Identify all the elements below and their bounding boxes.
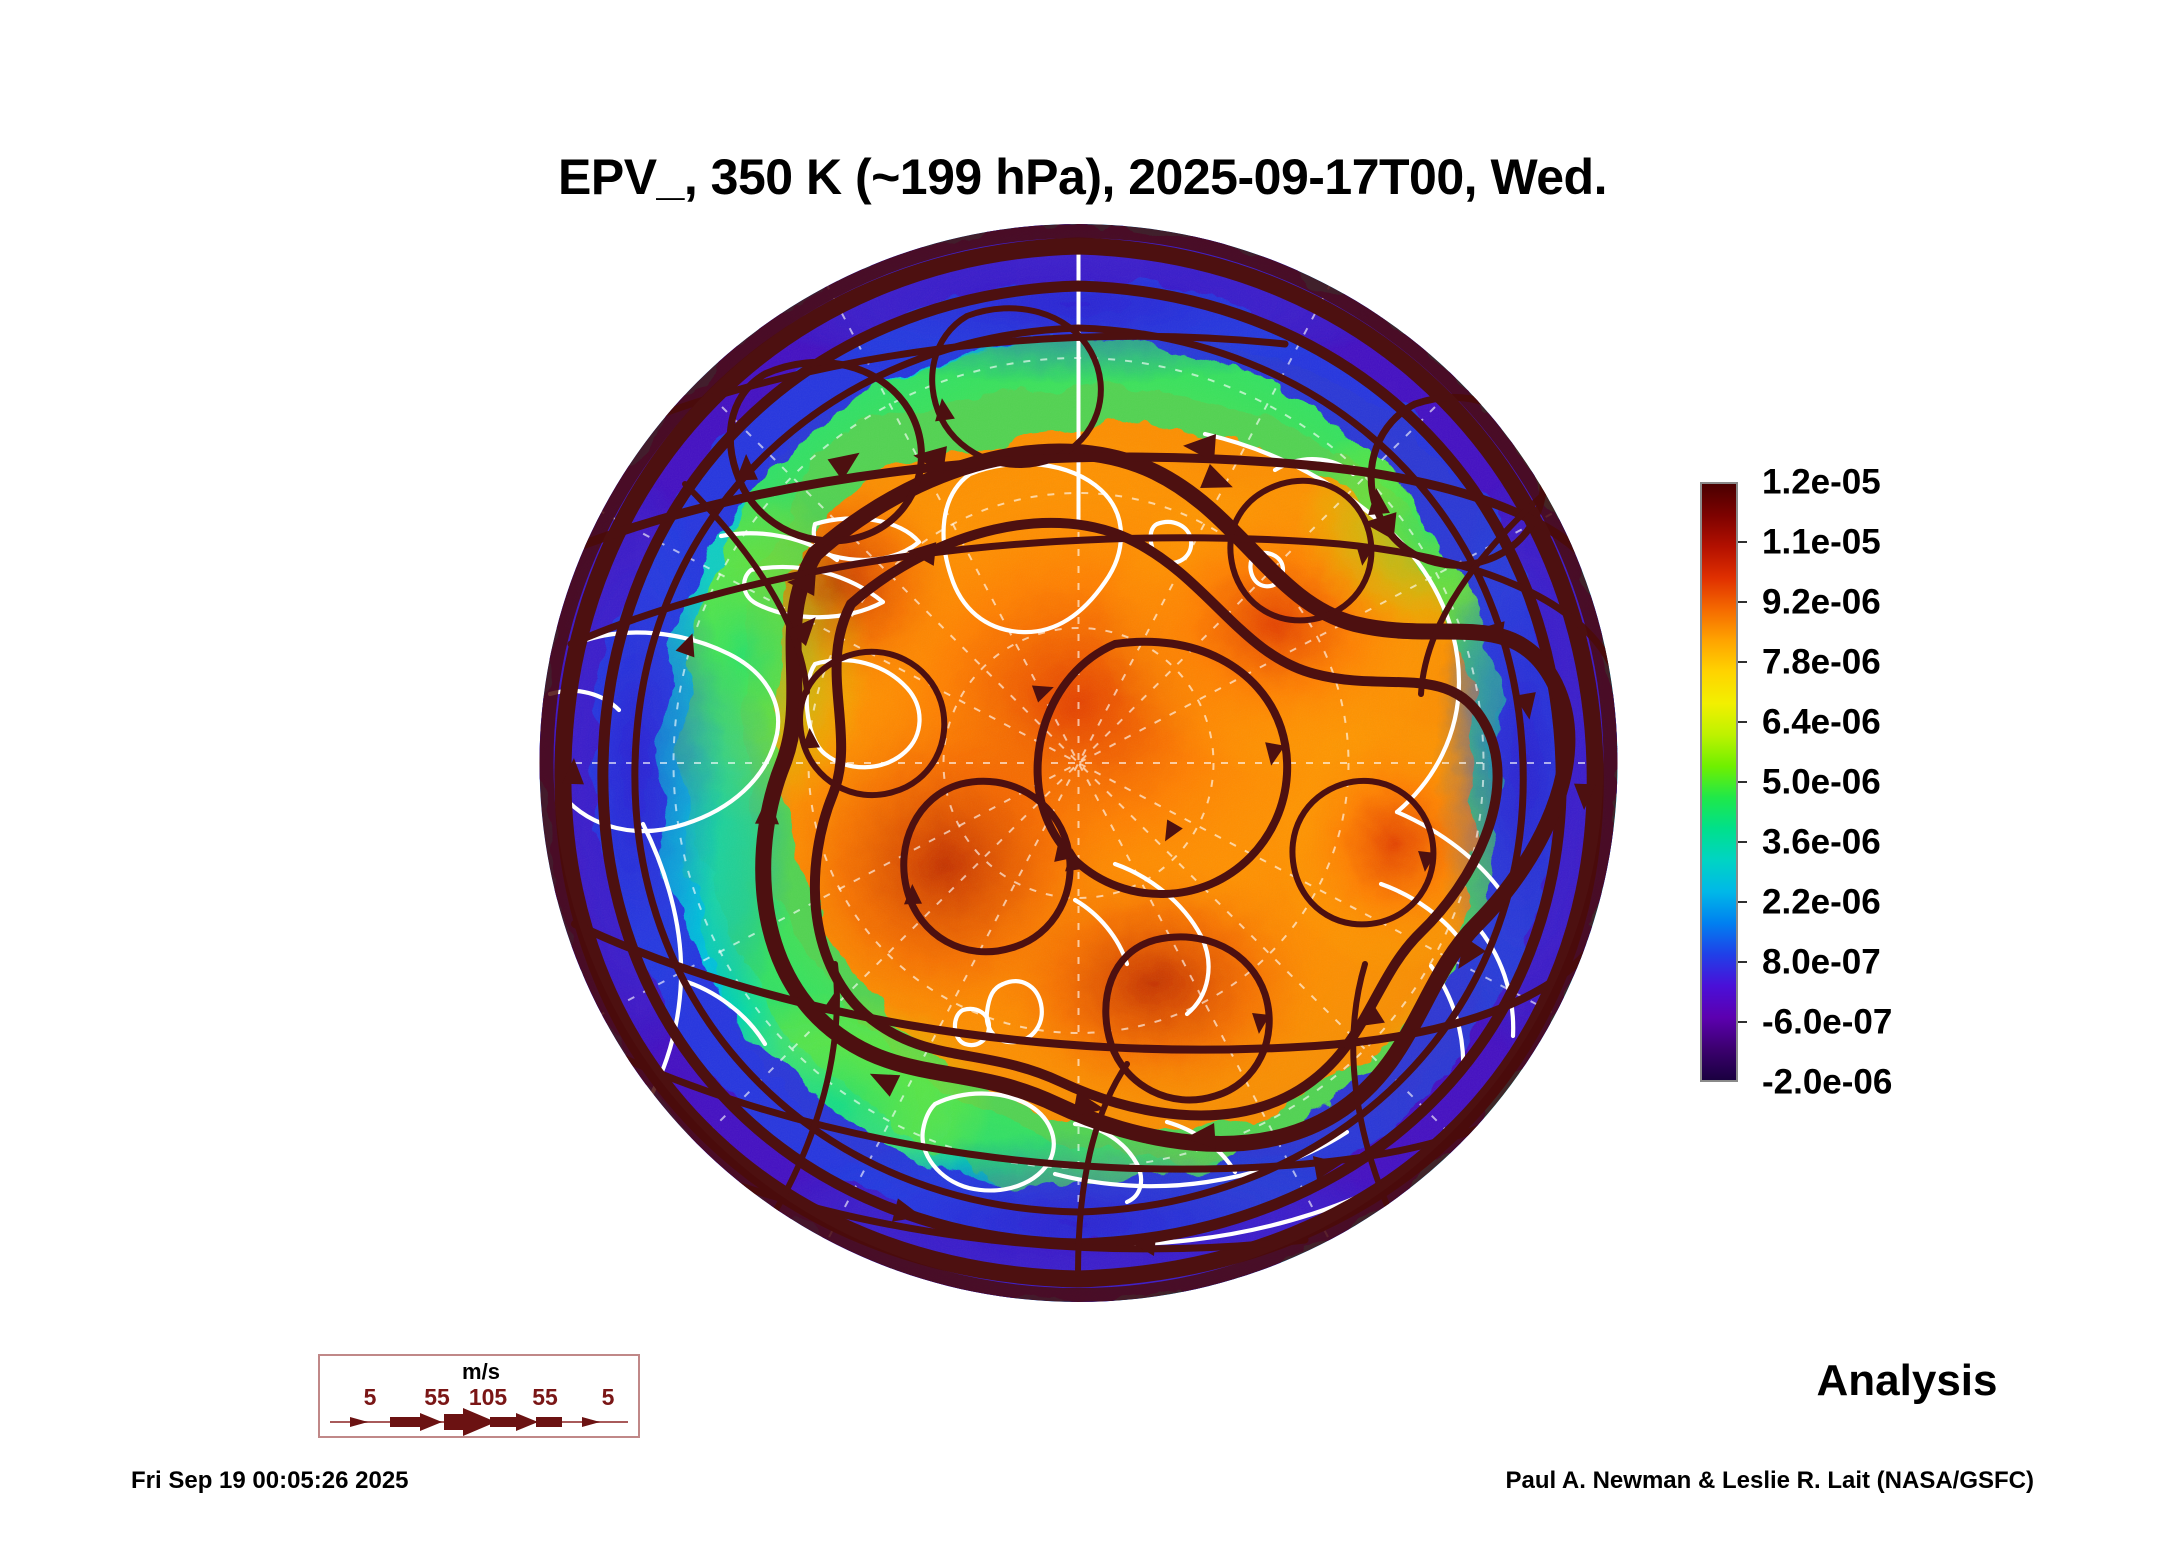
colorbar-tick	[1738, 961, 1747, 963]
analysis-label: Analysis	[1697, 1356, 2117, 1406]
colorbar-tick	[1738, 1021, 1747, 1023]
wind-tick-label: 105	[469, 1384, 507, 1411]
map-disc	[515, 224, 1642, 1302]
colorbar-label: -6.0e-07	[1762, 1005, 1892, 1040]
colorbar-tick	[1738, 541, 1747, 543]
colorbar-tick	[1738, 841, 1747, 843]
author-credit: Paul A. Newman & Leslie R. Lait (NASA/GS…	[1505, 1467, 2034, 1495]
colorbar-tick	[1738, 781, 1747, 783]
colorbar-label: 5.0e-06	[1762, 765, 1881, 800]
colorbar-label: -2.0e-06	[1762, 1065, 1892, 1100]
colorbar-gradient	[1702, 484, 1736, 1080]
colorbar-label: 2.2e-06	[1762, 885, 1881, 920]
wind-unit-label: m/s	[320, 1359, 642, 1385]
colorbar-tick	[1738, 901, 1747, 903]
colorbar-tick	[1738, 601, 1747, 603]
colorbar-label: 1.2e-05	[1762, 465, 1881, 500]
map-canvas	[515, 224, 1642, 1302]
colorbar-tick	[1738, 661, 1747, 663]
colorbar-label: 1.1e-05	[1762, 525, 1881, 560]
colorbar-label: 7.8e-06	[1762, 645, 1881, 680]
wind-tick-label: 5	[602, 1384, 615, 1411]
colorbar	[1700, 482, 1738, 1082]
colorbar-tick	[1738, 721, 1747, 723]
figure-root: EPV_, 350 K (~199 hPa), 2025-09-17T00, W…	[0, 0, 2165, 1561]
polar-map	[515, 224, 1642, 1302]
page-title: EPV_, 350 K (~199 hPa), 2025-09-17T00, W…	[0, 148, 2165, 206]
wind-tick-label: 55	[532, 1384, 558, 1411]
colorbar-label: 8.0e-07	[1762, 945, 1881, 980]
wind-speed-legend: m/s 555105555	[318, 1354, 640, 1438]
wind-tick-label: 5	[364, 1384, 377, 1411]
wind-tick-label: 55	[424, 1384, 450, 1411]
colorbar-label: 6.4e-06	[1762, 705, 1881, 740]
colorbar-label: 9.2e-06	[1762, 585, 1881, 620]
colorbar-label: 3.6e-06	[1762, 825, 1881, 860]
generation-timestamp: Fri Sep 19 00:05:26 2025	[131, 1467, 409, 1495]
wind-arrow-scale	[320, 1408, 638, 1436]
